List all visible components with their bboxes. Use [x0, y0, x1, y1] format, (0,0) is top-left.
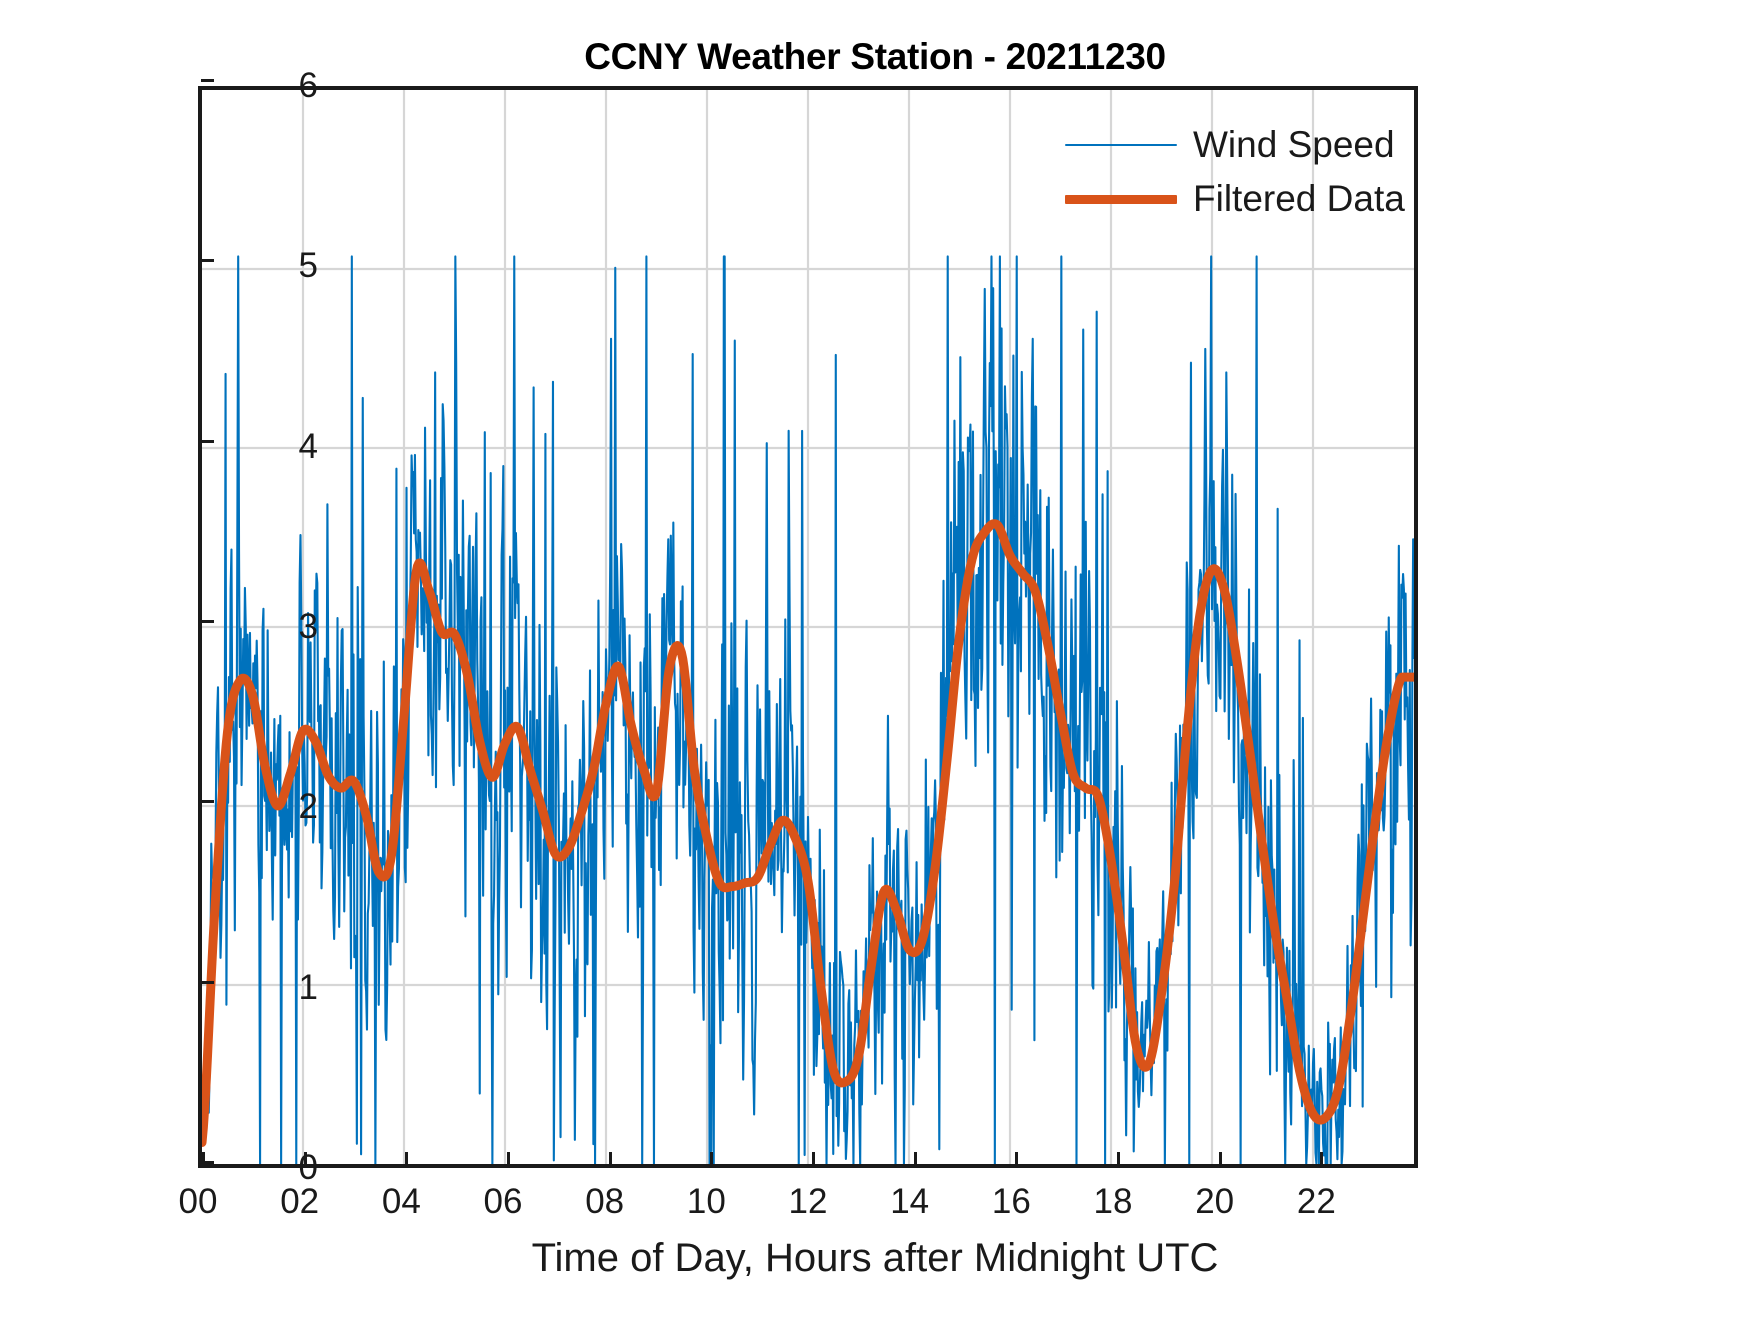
x-tick-mark — [1117, 1152, 1120, 1165]
legend-label: Filtered Data — [1177, 178, 1405, 220]
x-tick-mark — [812, 1152, 815, 1165]
legend-item-1: Filtered Data — [1065, 172, 1405, 226]
y-tick-label: 1 — [198, 968, 318, 1008]
y-tick-label: 6 — [198, 66, 318, 106]
plot-inner — [202, 90, 1414, 1164]
x-tick-mark — [1015, 1152, 1018, 1165]
x-tick-mark — [1320, 1152, 1323, 1165]
x-tick-mark — [710, 1152, 713, 1165]
y-tick-label: 2 — [198, 787, 318, 827]
x-tick-label: 22 — [1256, 1182, 1376, 1222]
y-tick-label: 4 — [198, 427, 318, 467]
chart-legend: Wind Speed Filtered Data — [1065, 118, 1405, 226]
y-tick-label: 3 — [198, 607, 318, 647]
y-tick-label: 5 — [198, 246, 318, 286]
series-filtered-data — [202, 90, 1414, 1164]
chart-figure: CCNY Weather Station - 20211230 Wind Spe… — [0, 0, 1750, 1313]
x-tick-mark — [914, 1152, 917, 1165]
x-axis-label: Time of Day, Hours after Midnight UTC — [0, 1236, 1750, 1281]
x-tick-mark — [405, 1152, 408, 1165]
x-tick-mark — [507, 1152, 510, 1165]
legend-swatch-1 — [1065, 195, 1177, 204]
x-tick-mark — [1219, 1152, 1222, 1165]
legend-item-0: Wind Speed — [1065, 118, 1405, 172]
legend-swatch-0 — [1065, 144, 1177, 146]
x-tick-mark — [609, 1152, 612, 1165]
legend-label: Wind Speed — [1177, 124, 1395, 166]
plot-area: Wind Speed, m/s — [198, 86, 1418, 1168]
